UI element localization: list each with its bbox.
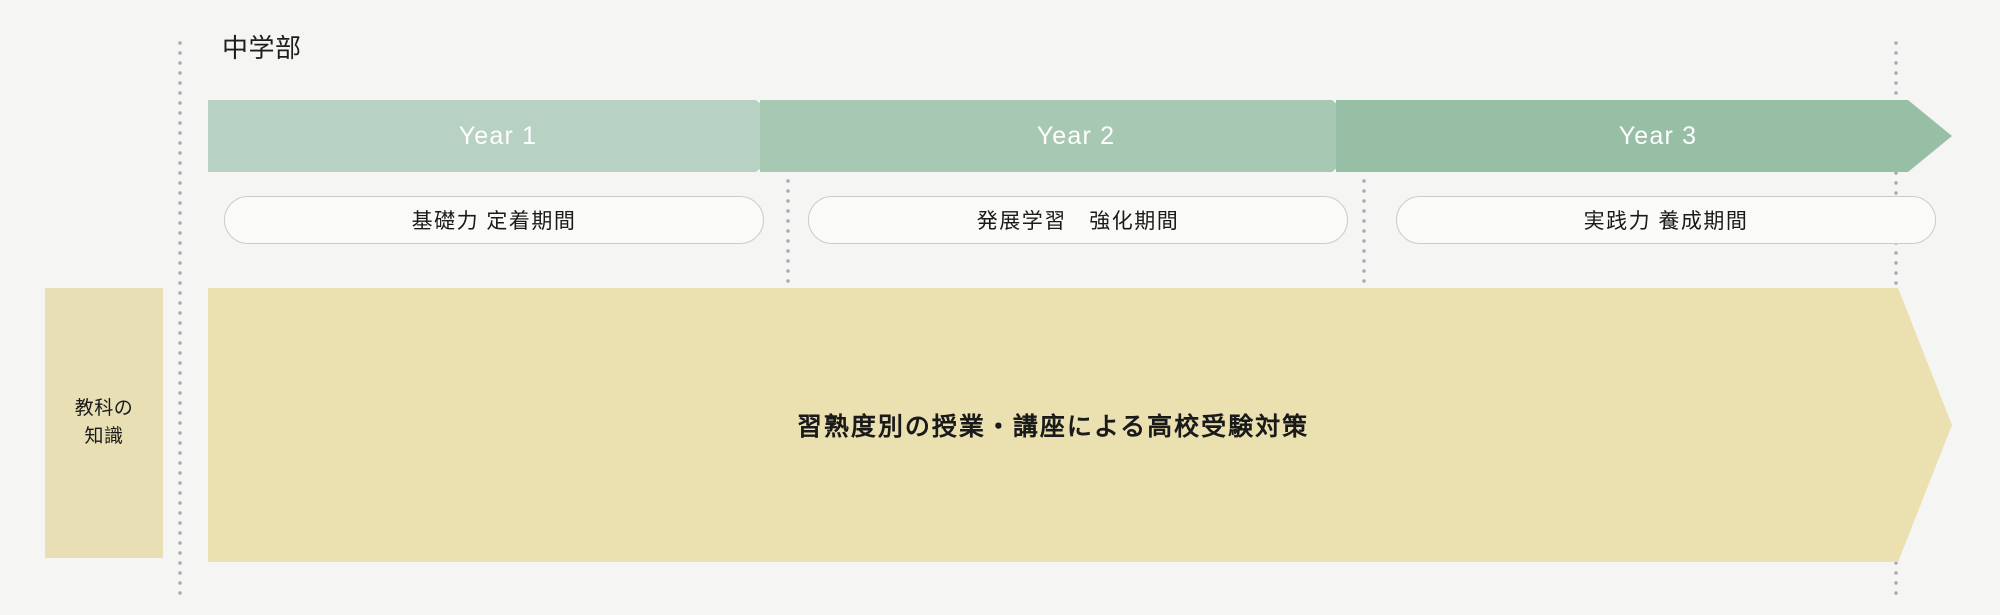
dotted-divider-year1-year2 [786,176,790,288]
phase-pill-1[interactable]: 基礎力 定着期間 [224,196,764,244]
phase-pill-3-label: 実践力 養成期間 [1584,205,1749,235]
dotted-divider-left [178,38,182,600]
year-chevron-shapes [208,100,1952,172]
phase-pill-3[interactable]: 実践力 養成期間 [1396,196,1936,244]
year-1-chevron[interactable] [208,100,800,172]
phase-pill-2[interactable]: 発展学習 強化期間 [808,196,1348,244]
content-band-shape [208,288,1952,562]
category-label-line-1: 教科の [75,395,134,423]
category-label-line-2: 知識 [84,423,123,451]
dotted-divider-year2-year3 [1362,176,1366,288]
phase-pill-1-label: 基礎力 定着期間 [412,205,577,235]
content-band: 習熟度別の授業・講座による高校受験対策 [208,288,1952,562]
content-band-arrow[interactable] [208,288,1952,562]
category-label-subject-knowledge: 教科の 知識 [45,288,163,558]
year-2-chevron[interactable] [760,100,1376,172]
section-title: 中学部 [222,33,302,64]
year-chevron-bar: Year 1 Year 2 Year 3 [208,100,1952,172]
year-3-chevron[interactable] [1336,100,1952,172]
diagram-root: 中学部 Year 1 Year 2 Year 3 基礎力 定着期間 発展学習 強… [0,0,2000,615]
phase-pill-2-label: 発展学習 強化期間 [977,205,1180,235]
